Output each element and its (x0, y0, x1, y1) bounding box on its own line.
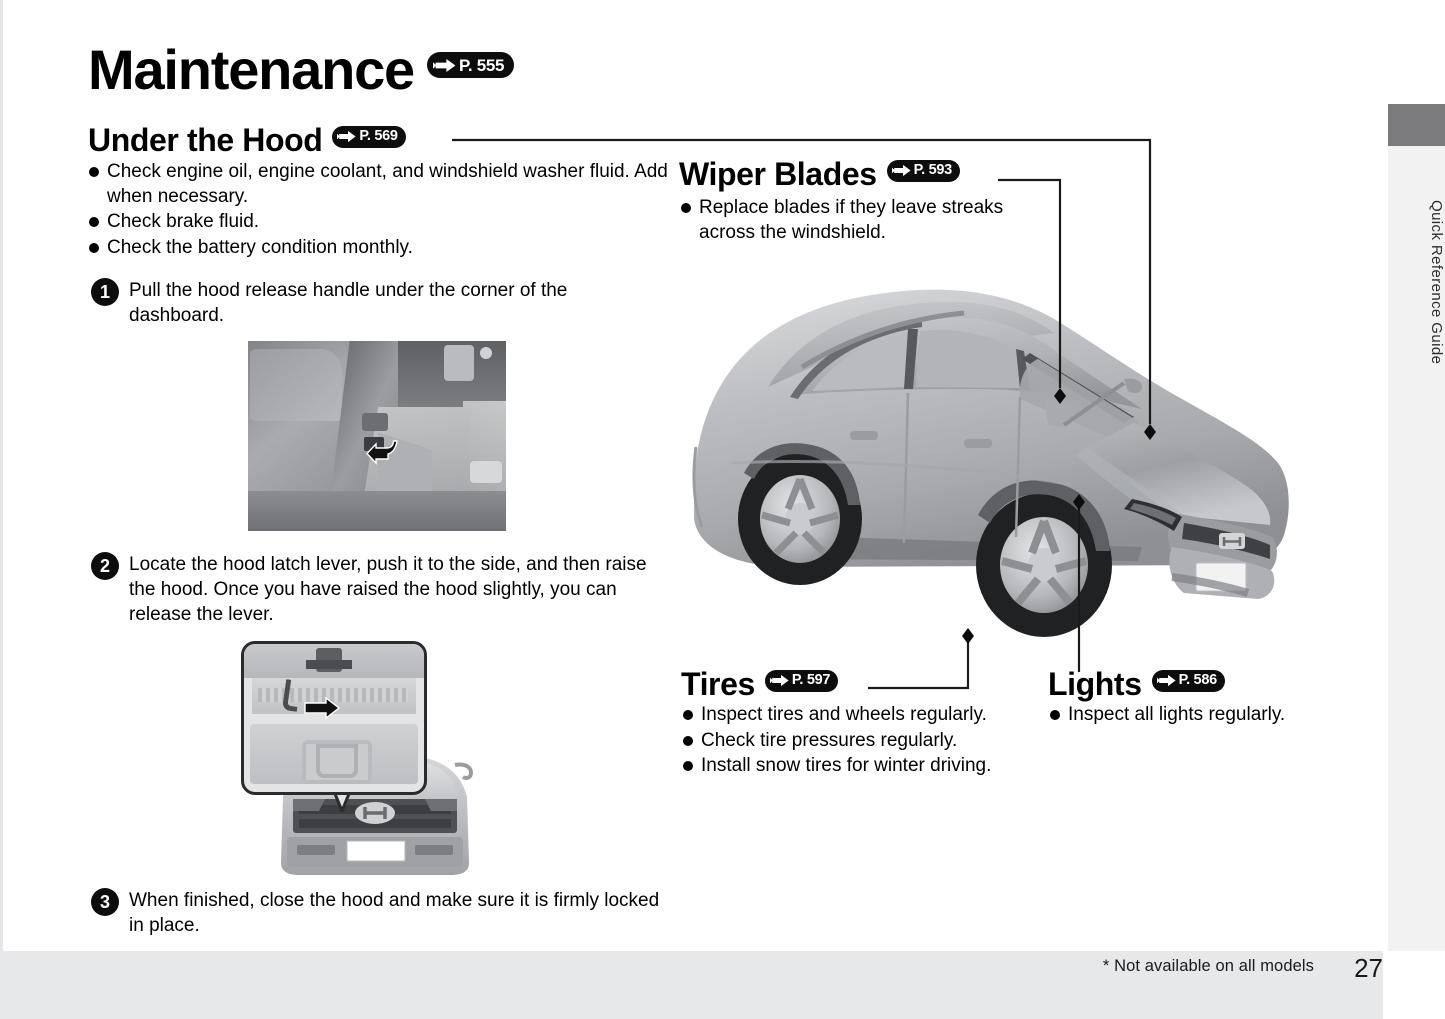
side-tab-marker (1388, 104, 1445, 146)
page-ref-text: P. 555 (459, 57, 504, 74)
bullet-dot-icon (89, 243, 99, 253)
manual-page: Maintenance P. 555 Under the Hood P. 569… (0, 0, 1445, 1019)
step-3: 3 When finished, close the hood and make… (91, 888, 661, 938)
arrow-right-icon (1157, 674, 1176, 687)
page-title-text: Maintenance (88, 38, 414, 101)
page-ref-badge-under-hood[interactable]: P. 569 (332, 126, 405, 148)
bullet-text: Inspect tires and wheels regularly. (701, 703, 987, 728)
side-tab-label: Quick Reference Guide (1388, 150, 1445, 410)
section-heading-wiper-blades: Wiper Blades P. 593 (679, 158, 960, 190)
hood-latch-lever-callout (241, 641, 491, 881)
footer-notch (1383, 951, 1445, 1019)
bullet-dot-icon (683, 710, 693, 720)
step-number-badge: 2 (91, 552, 119, 580)
bullet-text: Check engine oil, engine coolant, and wi… (107, 160, 669, 209)
list-item: Inspect tires and wheels regularly. (683, 703, 1013, 728)
arrow-right-icon (770, 674, 789, 687)
bullet-list-under-hood: Check engine oil, engine coolant, and wi… (89, 160, 669, 261)
arrow-right-icon (304, 696, 340, 720)
step-text: Locate the hood latch lever, push it to … (129, 552, 676, 627)
bullet-dot-icon (89, 167, 99, 177)
list-item: Replace blades if they leave streaks acr… (681, 196, 1041, 245)
bullet-dot-icon (683, 736, 693, 746)
list-item: Check tire pressures regularly. (683, 729, 1013, 754)
footnote: * Not available on all models (1103, 957, 1314, 976)
bullet-text: Check the battery condition monthly. (107, 236, 413, 261)
page-ref-text: P. 597 (792, 673, 830, 688)
bullet-dot-icon (683, 761, 693, 771)
section-heading-tires: Tires P. 597 (681, 668, 838, 700)
step-number-badge: 3 (91, 888, 119, 916)
photo-knob (480, 347, 492, 359)
bullet-text: Inspect all lights regularly. (1068, 703, 1285, 728)
bullet-list-tires: Inspect tires and wheels regularly. Chec… (683, 703, 1013, 780)
page-ref-badge-wiper-blades[interactable]: P. 593 (887, 160, 960, 182)
section-heading-lights: Lights P. 586 (1048, 668, 1225, 700)
list-item: Install snow tires for winter driving. (683, 754, 1013, 779)
latch-detail-callout (241, 641, 427, 795)
page-left-edge (0, 0, 3, 1019)
step-number-badge: 1 (91, 278, 119, 306)
step-1: 1 Pull the hood release handle under the… (91, 278, 651, 328)
photo-door-sill (248, 491, 506, 531)
list-item: Check the battery condition monthly. (89, 236, 669, 261)
step-text: When finished, close the hood and make s… (129, 888, 661, 938)
page-title: Maintenance P. 555 (88, 42, 514, 98)
arrow-right-icon (433, 58, 456, 73)
page-ref-badge-title[interactable]: P. 555 (427, 52, 514, 78)
hood-release-handle-photo (248, 341, 506, 531)
bullet-list-wiper-blades: Replace blades if they leave streaks acr… (681, 196, 1041, 246)
section-heading-under-hood: Under the Hood P. 569 (88, 124, 406, 156)
page-ref-text: P. 569 (359, 129, 397, 144)
photo-door-pad (470, 461, 502, 483)
section-heading-text: Lights (1048, 666, 1142, 702)
photo-lever-housing (362, 413, 388, 431)
bullet-dot-icon (681, 203, 691, 213)
page-number: 27 (1354, 953, 1383, 984)
bullet-dot-icon (1050, 710, 1060, 720)
arrow-right-icon (337, 130, 356, 143)
page-ref-text: P. 593 (914, 163, 952, 178)
section-heading-text: Under the Hood (88, 122, 322, 158)
page-ref-badge-tires[interactable]: P. 597 (765, 670, 838, 692)
photo-panel (444, 345, 474, 381)
step-text: Pull the hood release handle under the c… (129, 278, 651, 328)
bullet-text: Install snow tires for winter driving. (701, 754, 991, 779)
callout-emblem (316, 744, 358, 778)
arrow-right-icon (892, 164, 911, 177)
bullet-text: Check brake fluid. (107, 210, 259, 235)
bullet-text: Check tire pressures regularly. (701, 729, 957, 754)
section-heading-text: Wiper Blades (679, 156, 877, 192)
arrow-left-icon (366, 439, 398, 465)
list-item: Check brake fluid. (89, 210, 669, 235)
callout-latch-base (306, 660, 352, 669)
bullet-dot-icon (89, 217, 99, 227)
bullet-list-lights: Inspect all lights regularly. (1050, 703, 1380, 729)
page-ref-text: P. 586 (1179, 673, 1217, 688)
list-item: Check engine oil, engine coolant, and wi… (89, 160, 669, 209)
section-heading-text: Tires (681, 666, 755, 702)
bullet-text: Replace blades if they leave streaks acr… (699, 196, 1041, 245)
page-ref-badge-lights[interactable]: P. 586 (1152, 670, 1225, 692)
vehicle-three-quarter-view (672, 247, 1312, 667)
list-item: Inspect all lights regularly. (1050, 703, 1380, 728)
step-2: 2 Locate the hood latch lever, push it t… (91, 552, 676, 627)
photo-seat-cushion (250, 349, 342, 421)
